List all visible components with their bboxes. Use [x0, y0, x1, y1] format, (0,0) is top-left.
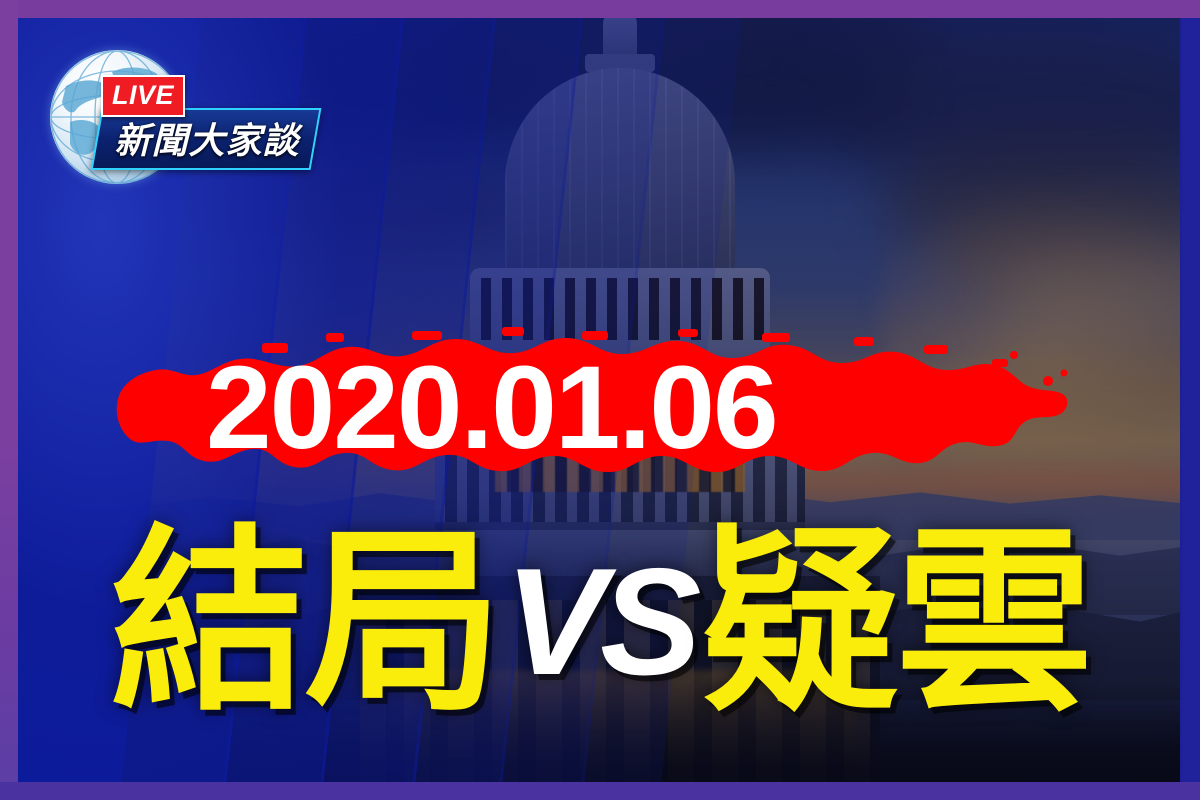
program-logo: LIVE 新聞大家談 — [46, 44, 316, 189]
headline-vs: VS — [499, 535, 702, 710]
broadcast-date: 2020.01.06 — [112, 338, 1072, 478]
headline: 結局 VS 疑雲 — [0, 505, 1200, 740]
headline-right: 疑雲 — [701, 524, 1089, 722]
headline-left: 結局 — [111, 524, 499, 722]
live-badge: LIVE — [101, 75, 185, 117]
program-title: 新聞大家談 — [102, 114, 312, 162]
thumbnail-canvas: LIVE 新聞大家談 — [0, 0, 1200, 800]
